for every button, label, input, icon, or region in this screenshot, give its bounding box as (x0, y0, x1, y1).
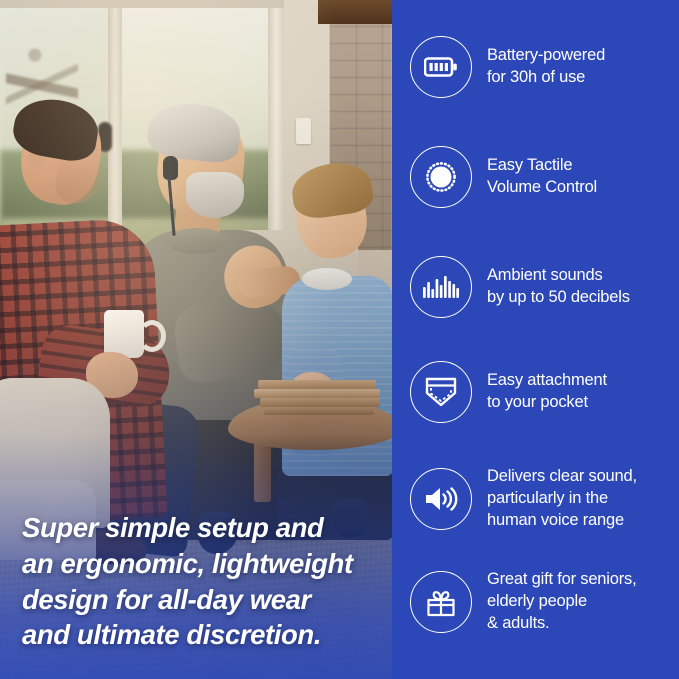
feature-item-pocket-attachment: Easy attachment to your pocket (410, 361, 672, 423)
feature-line: Volume Control (487, 177, 597, 199)
battery-icon (424, 55, 458, 79)
feature-label-pocket-attachment: Easy attachment to your pocket (487, 370, 607, 414)
feature-item-ambient-sounds: Ambient sounds by up to 50 decibels (410, 256, 672, 318)
speaker-icon (423, 484, 459, 514)
headline-line-1: Super simple setup and (22, 510, 382, 546)
speaker-icon-circle (410, 468, 472, 530)
feature-line: human voice range (487, 510, 637, 532)
window-rail (0, 0, 300, 8)
feature-item-clear-sound: Delivers clear sound, particularly in th… (410, 466, 672, 531)
product-feature-graphic: Super simple setup and an ergonomic, lig… (0, 0, 679, 679)
pocket-icon-circle (410, 361, 472, 423)
window-mullion (268, 0, 284, 250)
volume-dial-icon-circle (410, 146, 472, 208)
volume-dial-icon (421, 157, 461, 197)
wood-mantel (318, 0, 392, 24)
headline-line-4: and ultimate discretion. (22, 617, 382, 653)
feature-line: for 30h of use (487, 67, 605, 89)
gift-icon-circle (410, 571, 472, 633)
feature-item-volume-control: Easy Tactile Volume Control (410, 146, 672, 208)
headline-text: Super simple setup and an ergonomic, lig… (22, 510, 382, 653)
gift-icon (424, 585, 458, 619)
pocket-icon (424, 376, 458, 408)
feature-item-gift: Great gift for seniors, elderly people &… (410, 569, 672, 634)
feature-line: by up to 50 decibels (487, 287, 630, 309)
headline-line-2: an ergonomic, lightweight (22, 546, 382, 582)
book (258, 380, 376, 389)
feature-label-battery: Battery-powered for 30h of use (487, 45, 605, 89)
book (260, 398, 380, 407)
feature-label-gift: Great gift for seniors, elderly people &… (487, 569, 636, 634)
feature-line: Battery-powered (487, 45, 605, 67)
book (264, 407, 374, 415)
headline-line-3: design for all-day wear (22, 582, 382, 618)
sound-bars-icon (423, 274, 459, 300)
feature-line: Great gift for seniors, (487, 569, 636, 591)
book-stack (258, 380, 384, 414)
light-switch (296, 118, 311, 144)
feature-line: Delivers clear sound, (487, 466, 637, 488)
feature-line: & adults. (487, 613, 636, 635)
coffee-mug-handle (138, 320, 166, 352)
feature-label-clear-sound: Delivers clear sound, particularly in th… (487, 466, 637, 531)
feature-line: Easy Tactile (487, 155, 597, 177)
feature-label-volume-control: Easy Tactile Volume Control (487, 155, 597, 199)
battery-icon-circle (410, 36, 472, 98)
feature-label-ambient-sounds: Ambient sounds by up to 50 decibels (487, 265, 630, 309)
sound-bars-icon-circle (410, 256, 472, 318)
feature-line: particularly in the (487, 488, 637, 510)
feature-item-battery: Battery-powered for 30h of use (410, 36, 672, 98)
book (254, 389, 380, 398)
feature-line: elderly people (487, 591, 636, 613)
feature-line: Easy attachment (487, 370, 607, 392)
feature-line: Ambient sounds (487, 265, 630, 287)
feature-list: Battery-powered for 30h of use Easy Tact… (392, 0, 679, 679)
boy-shirt-collar (302, 268, 352, 290)
feature-line: to your pocket (487, 392, 607, 414)
